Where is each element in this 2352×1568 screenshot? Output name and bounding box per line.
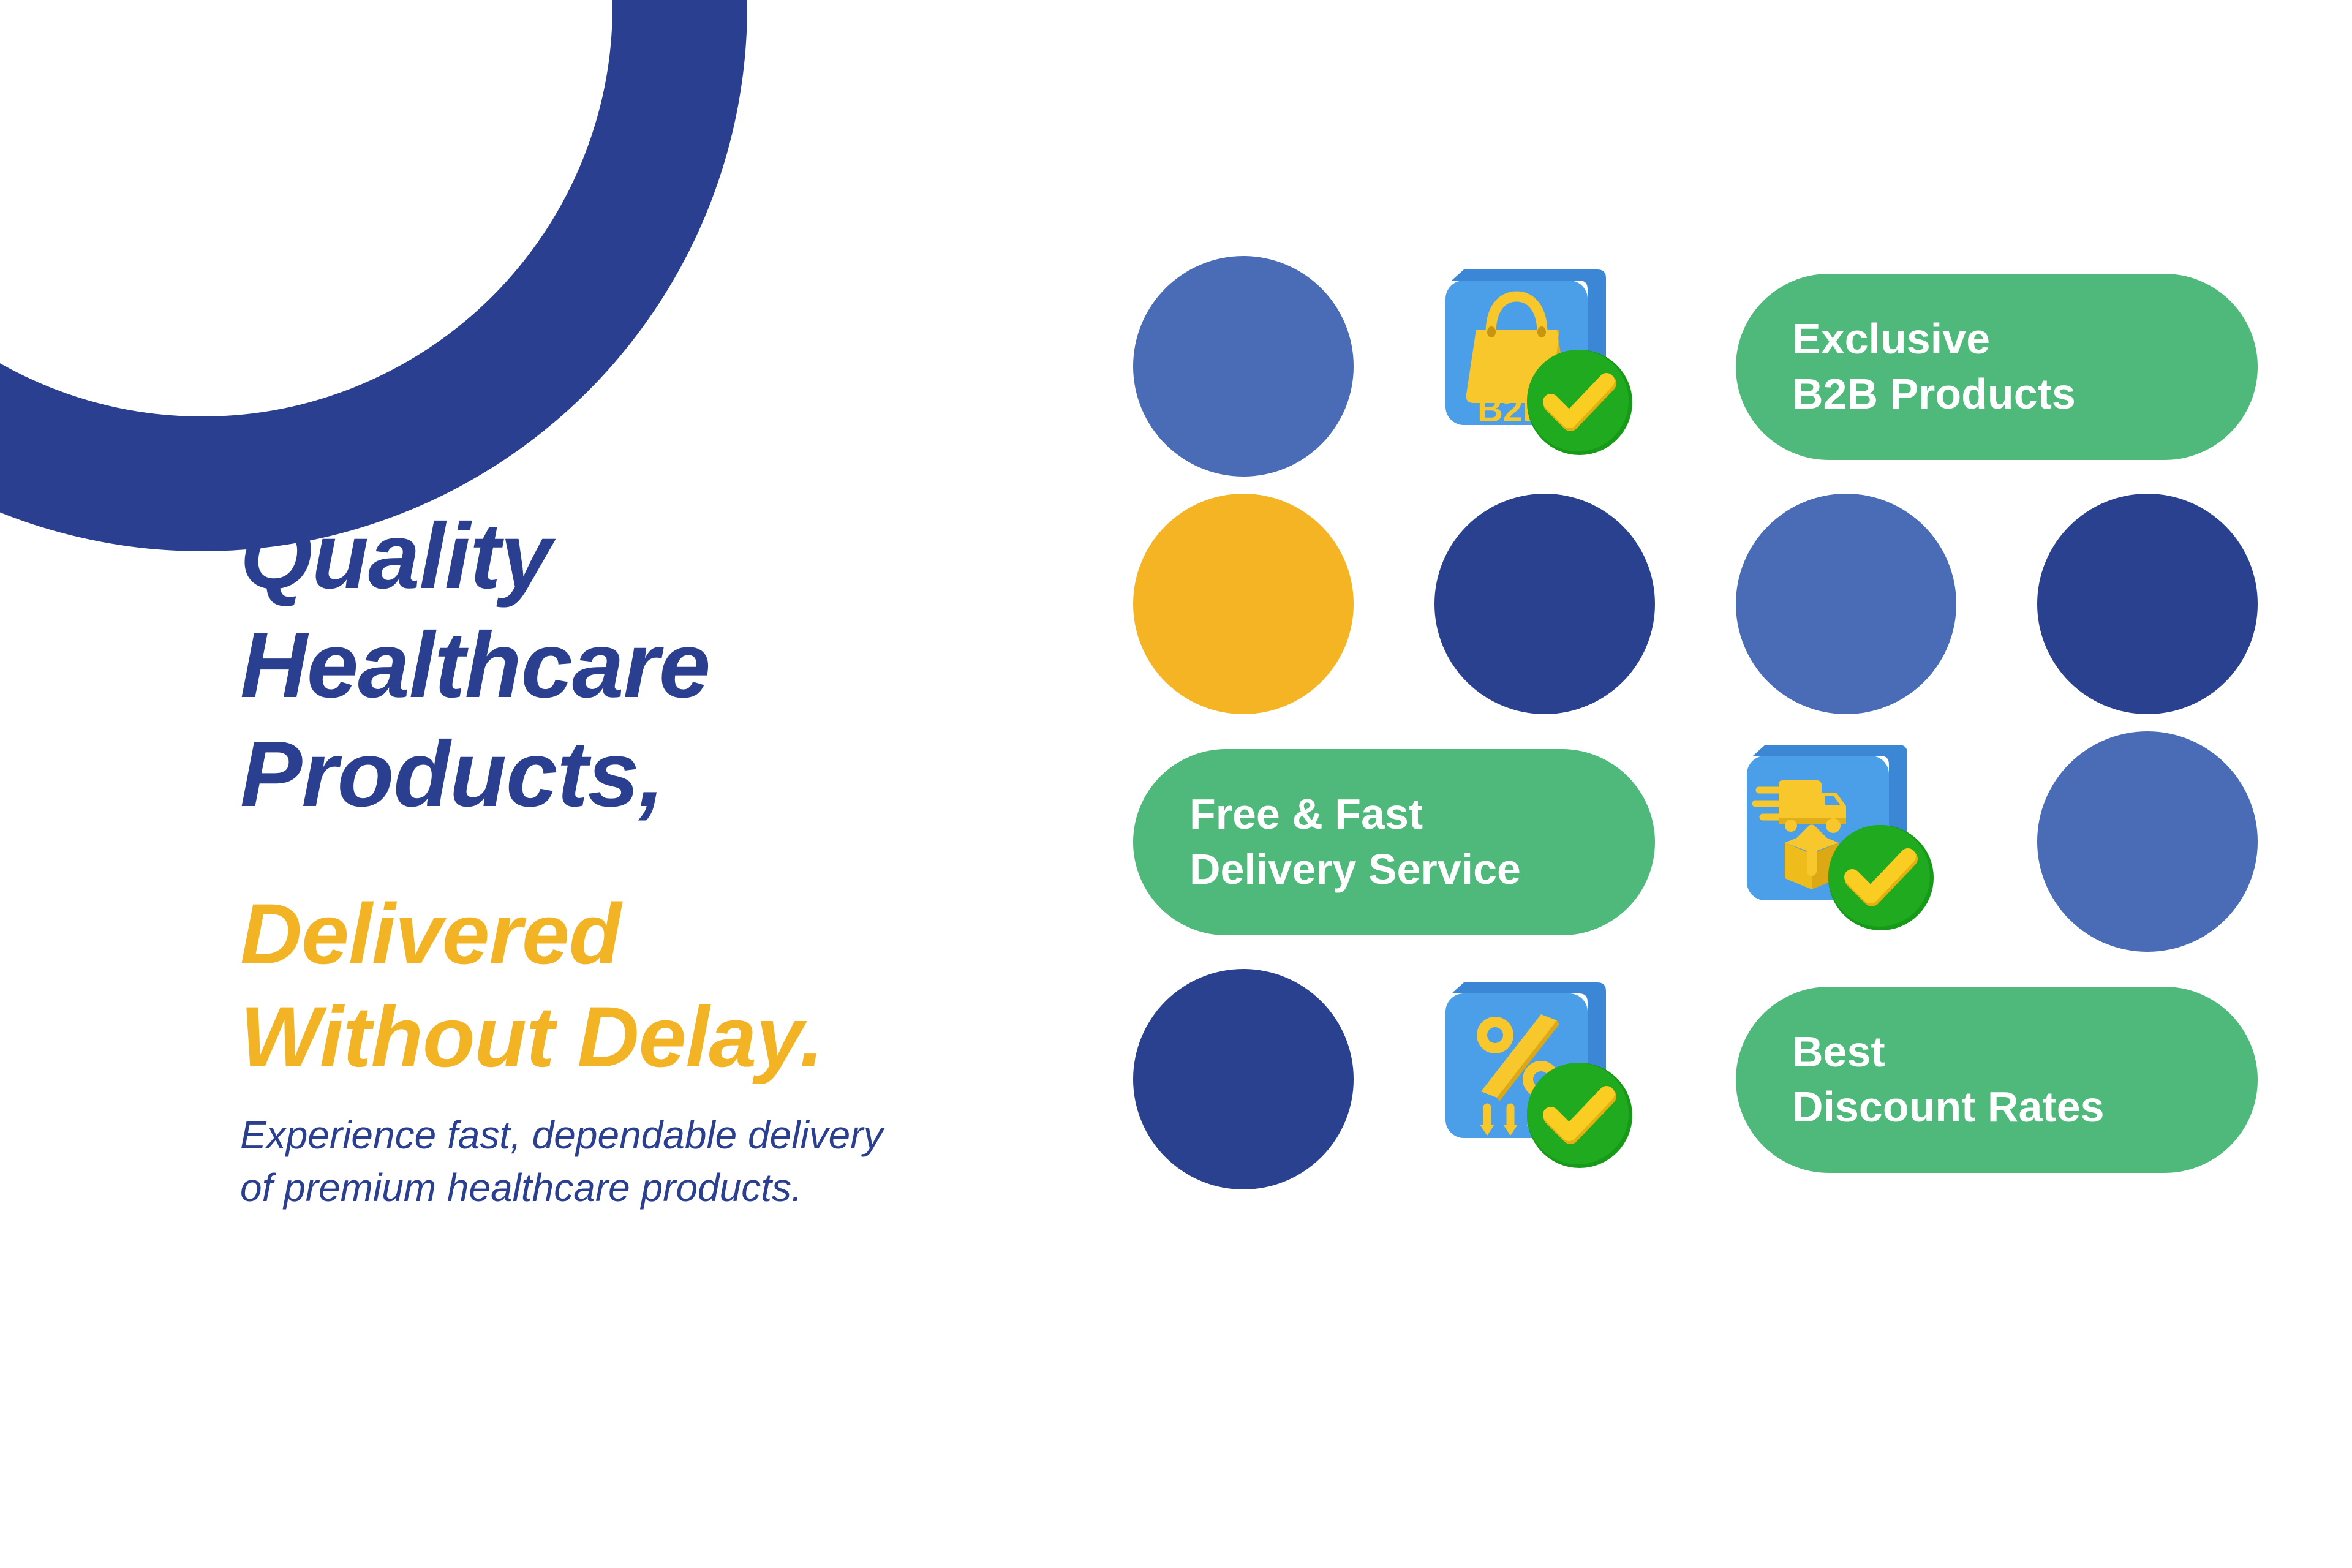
- decorative-circle-navy: [1434, 494, 1655, 714]
- icon-tile-delivery[interactable]: [1736, 731, 1956, 953]
- icon-tile-discount[interactable]: [1434, 969, 1655, 1191]
- icon-tile-b2b[interactable]: B2B: [1434, 256, 1655, 478]
- headline-accent: Delivered Without Delay.: [240, 883, 1036, 1088]
- feature-pill-exclusive-b2b-products[interactable]: Exclusive B2B Products: [1736, 274, 2258, 460]
- hero-copy: Quality Healthcare Products, Delivered W…: [240, 502, 1036, 1214]
- decorative-circle-navy: [1133, 969, 1354, 1189]
- grid-cell: [1434, 969, 1655, 1191]
- decorative-circle-gold: [1133, 494, 1354, 714]
- green-check-badge-icon: [1826, 823, 1936, 932]
- feature-pill-best-discount-rates[interactable]: Best Discount Rates: [1736, 987, 2258, 1173]
- decorative-circle-medium-blue: [1133, 256, 1354, 477]
- grid-cell: [1736, 731, 1956, 953]
- page-title: Quality Healthcare Products,: [240, 502, 1036, 829]
- grid-cell: [2037, 731, 2258, 953]
- grid-cell: B2B: [1434, 256, 1655, 478]
- feature-pill-free-fast-delivery-service[interactable]: Free & Fast Delivery Service: [1133, 749, 1655, 935]
- decorative-circle-medium-blue: [1736, 494, 1956, 714]
- grid-cell: [2037, 494, 2258, 715]
- green-check-badge-icon: [1525, 348, 1634, 457]
- hero-subtitle: Experience fast, dependable delivery of …: [240, 1109, 1036, 1213]
- decorative-circle-medium-blue: [2037, 731, 2258, 952]
- green-check-badge-icon: [1525, 1061, 1634, 1170]
- grid-cell: [1736, 494, 1956, 715]
- grid-cell: [1133, 256, 1354, 478]
- feature-grid: B2B Exclusive B2B Products: [1133, 256, 2260, 1191]
- feature-pill-label: Free & Fast Delivery Service: [1189, 787, 1521, 897]
- decorative-circle-navy: [2037, 494, 2258, 714]
- promo-banner: Quality Healthcare Products, Delivered W…: [0, 0, 2352, 1568]
- arc-ring-shape: [0, 0, 747, 551]
- grid-cell: [1133, 494, 1354, 715]
- decorative-arc: [0, 0, 747, 551]
- grid-cell: [1434, 494, 1655, 715]
- grid-cell: [1133, 969, 1354, 1191]
- feature-pill-label: Exclusive B2B Products: [1792, 312, 2076, 421]
- feature-pill-label: Best Discount Rates: [1792, 1025, 2105, 1134]
